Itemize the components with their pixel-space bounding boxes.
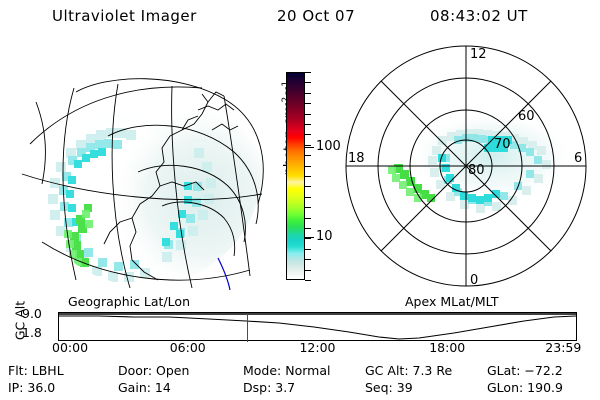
- observation-time: 08:43:02 UT: [430, 7, 528, 25]
- colorbar-minor-tick: [305, 270, 311, 271]
- colorbar-minor-tick: [305, 197, 311, 198]
- status-glat: GLat: −72.2: [487, 363, 563, 378]
- mlat-label-80: 80: [468, 163, 485, 178]
- mlt-label-18: 18: [348, 151, 365, 166]
- colorbar-minor-tick: [305, 145, 311, 146]
- status-door: Door: Open: [118, 363, 189, 378]
- orbit-xtick-label: 18:00: [429, 340, 465, 355]
- colorbar-minor-tick: [305, 176, 311, 177]
- mlt-label-12: 12: [470, 47, 487, 62]
- colorbar-tick-label: 100: [316, 140, 341, 153]
- orbit-altitude-trace: [59, 313, 576, 340]
- colorbar-gradient: [287, 73, 304, 279]
- status-ip: IP: 36.0: [8, 380, 55, 395]
- apex-image: 12 18 6 0 60 70 80: [342, 44, 592, 292]
- colorbar-minor-tick: [305, 280, 311, 281]
- colorbar-minor-tick: [305, 72, 311, 73]
- geo-panel-caption: Geographic Lat/Lon: [68, 294, 190, 309]
- colorbar-minor-tick: [305, 124, 311, 125]
- colorbar-minor-tick: [305, 155, 311, 156]
- colorbar-minor-tick: [305, 249, 311, 250]
- orbit-xtick-label: 12:00: [299, 340, 335, 355]
- colorbar-group[interactable]: photon cm-2s-1 10010: [262, 60, 340, 292]
- status-mode: Mode: Normal: [243, 363, 330, 378]
- status-gain: Gain: 14: [118, 380, 171, 395]
- colorbar-minor-tick: [305, 207, 311, 208]
- orbit-track-geo: [218, 258, 230, 290]
- colorbar-minor-tick: [305, 186, 311, 187]
- colorbar-minor-tick: [305, 103, 311, 104]
- mlat-label-60: 60: [518, 109, 535, 124]
- colorbar-minor-tick: [305, 114, 311, 115]
- observation-date: 20 Oct 07: [277, 7, 355, 25]
- apex-panel-caption: Apex MLat/MLT: [405, 294, 499, 309]
- orbit-xtick-label: 06:00: [170, 340, 206, 355]
- orbit-xtick-label: 23:59: [545, 340, 581, 355]
- colorbar-minor-tick: [305, 228, 311, 229]
- colorbar-minor-tick: [305, 218, 311, 219]
- mlt-label-0: 0: [470, 273, 478, 288]
- status-footer: Flt: LBHL IP: 36.0 Door: Open Gain: 14 M…: [0, 360, 600, 400]
- mlt-label-6: 6: [574, 151, 582, 166]
- status-glon: GLon: 190.9: [487, 380, 563, 395]
- mlat-label-70: 70: [494, 137, 511, 152]
- colorbar-tick-label: 10: [316, 230, 333, 243]
- geographic-image: [12, 44, 270, 292]
- colorbar-minor-tick: [305, 134, 311, 135]
- colorbar-minor-tick: [305, 259, 311, 260]
- status-gc-alt: GC Alt: 7.3 Re: [365, 363, 452, 378]
- status-flight: Flt: LBHL: [8, 363, 64, 378]
- colorbar-minor-tick: [305, 93, 311, 94]
- colorbar-minor-tick: [305, 166, 311, 167]
- apex-panel[interactable]: 12 18 6 0 60 70 80: [342, 44, 592, 292]
- time-cursor[interactable]: [247, 313, 249, 342]
- orbit-strip[interactable]: Geographic Lat/Lon Apex MLat/MLT GC Alt …: [0, 292, 600, 354]
- page-title: Ultraviolet Imager: [52, 7, 197, 25]
- status-seq: Seq: 39: [365, 380, 413, 395]
- colorbar-major-tick: [305, 237, 314, 238]
- colorbar-minor-tick: [305, 238, 311, 239]
- orbit-xtick-label: 00:00: [52, 340, 88, 355]
- status-dsp: Dsp: 3.7: [243, 380, 295, 395]
- colorbar-minor-tick: [305, 82, 311, 83]
- apex-polar-grid: [346, 46, 586, 286]
- colorbar-major-tick: [305, 147, 314, 148]
- colorbar-scale[interactable]: [286, 72, 305, 280]
- orbit-ytick-bottom: 1.8: [22, 325, 42, 340]
- header-bar: Ultraviolet Imager 20 Oct 07 08:43:02 UT: [0, 0, 600, 34]
- orbit-altitude-plot[interactable]: [58, 312, 577, 341]
- geographic-panel[interactable]: [12, 44, 270, 292]
- orbit-ytick-top: 9.0: [22, 306, 42, 321]
